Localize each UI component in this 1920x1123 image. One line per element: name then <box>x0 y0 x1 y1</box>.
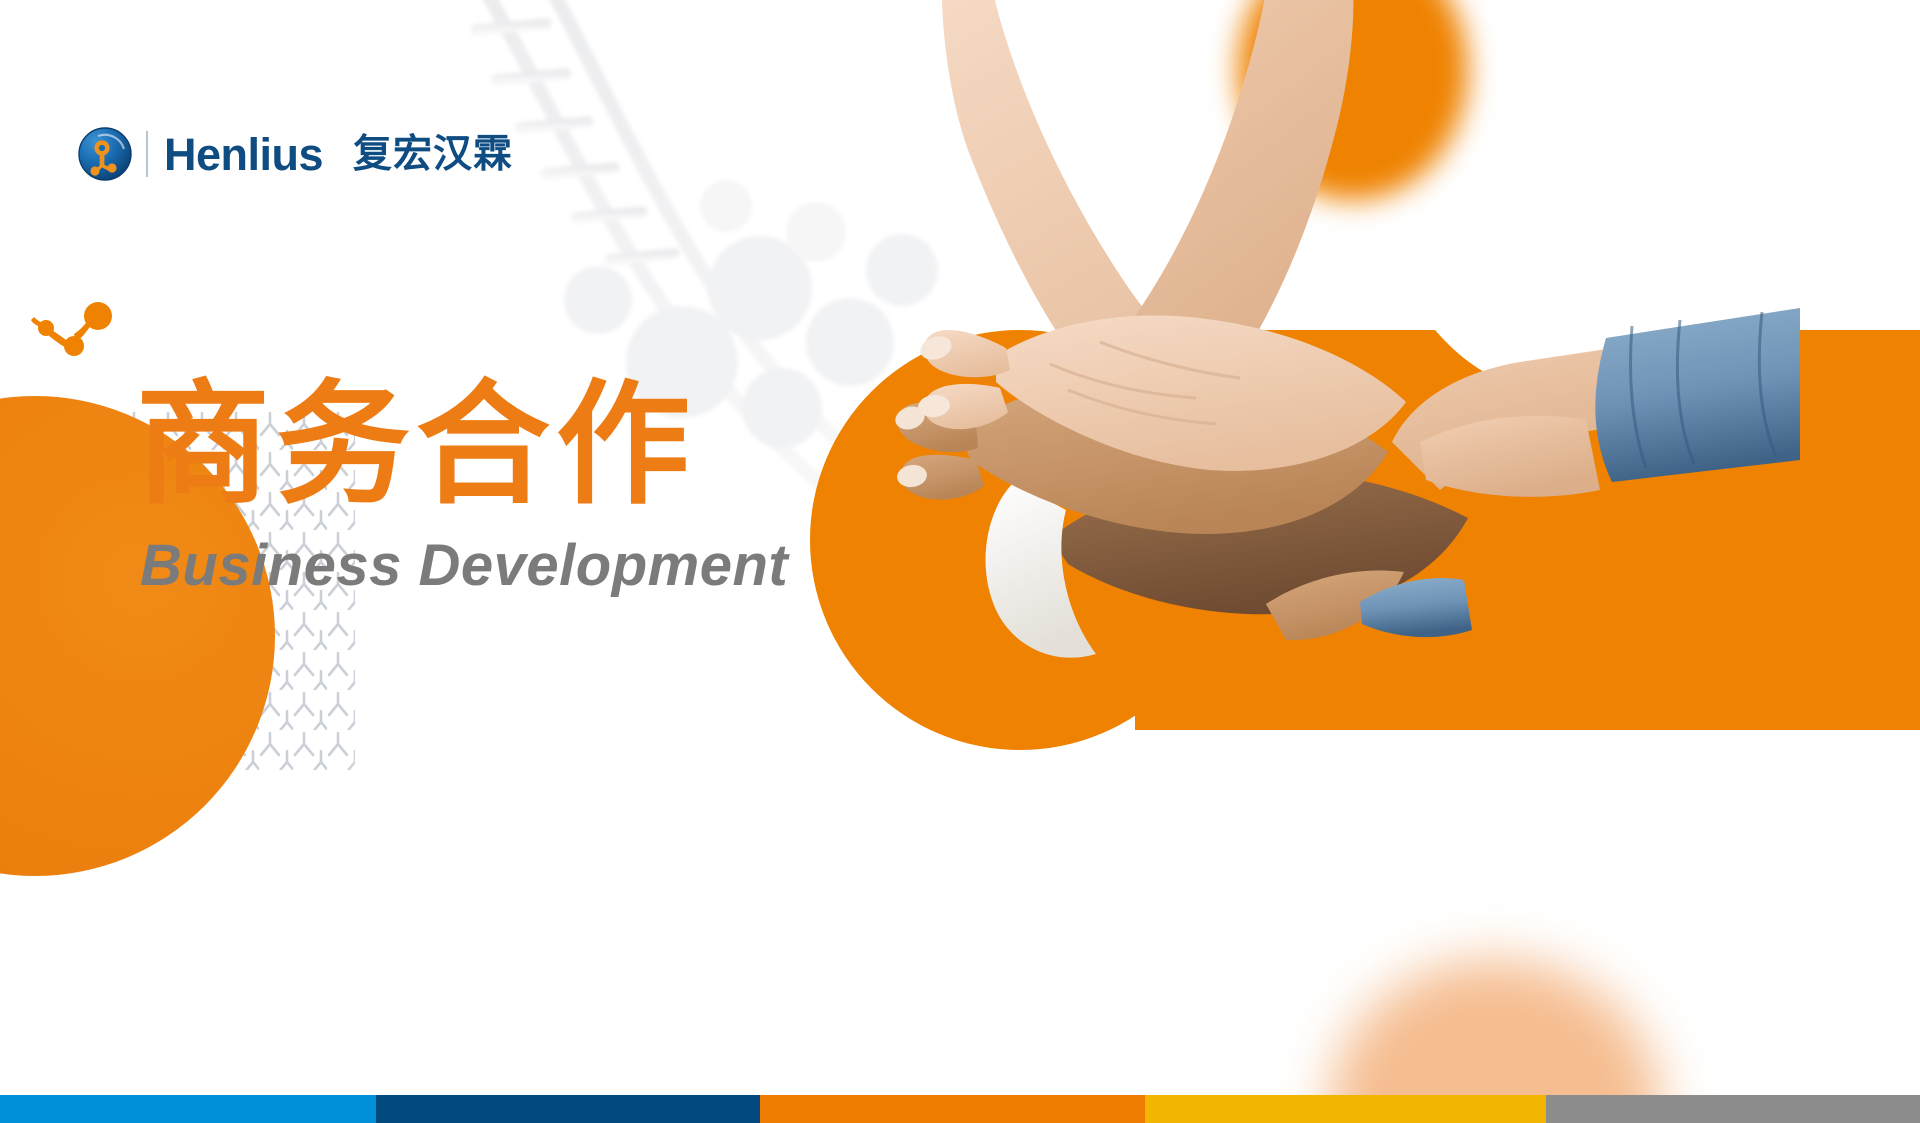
bottom-bar-segment-gray <box>1546 1095 1920 1123</box>
teamwork-stacked-hands-photo <box>800 0 1800 790</box>
henlius-molecule-logo-icon <box>78 127 132 181</box>
molecule-dumbbell-icon <box>30 300 120 360</box>
slide-subtitle: Business Development <box>140 532 788 599</box>
slide-title: 商务合作 <box>136 374 696 519</box>
bottom-bar-segment-orange <box>760 1095 1145 1123</box>
logo-divider <box>146 131 148 177</box>
bottom-bar-segment-gold <box>1145 1095 1546 1123</box>
brand-logo[interactable]: Henlius 复宏汉霖 <box>78 126 513 182</box>
logo-wordmark: Henlius <box>164 132 323 177</box>
title-slide: Henlius 复宏汉霖 商务合作 Business Development <box>0 0 1920 1123</box>
logo-chinese-name: 复宏汉霖 <box>353 135 513 174</box>
bottom-bar-segment-dark-blue <box>376 1095 760 1123</box>
bottom-bar-segment-light-blue <box>0 1095 376 1123</box>
bottom-color-bar <box>0 1095 1920 1123</box>
